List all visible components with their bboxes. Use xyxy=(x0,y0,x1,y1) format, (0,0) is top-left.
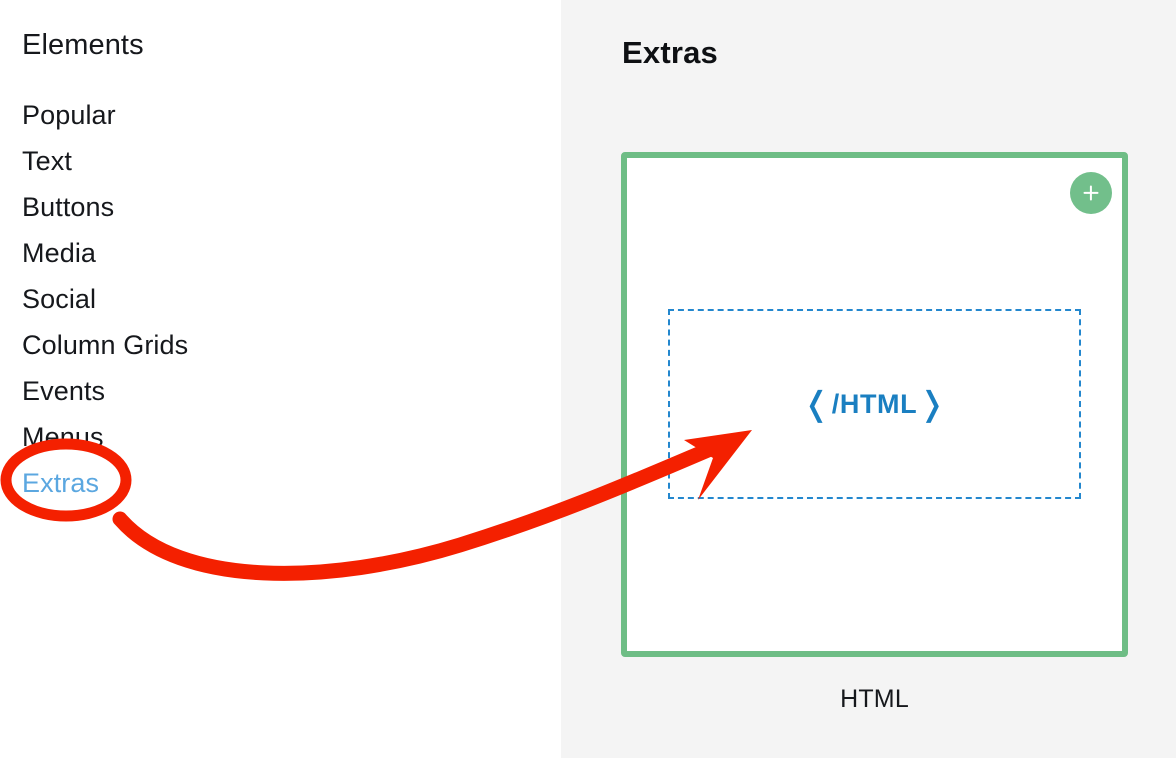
page-title: Extras xyxy=(622,35,718,71)
sidebar-item-extras[interactable]: Extras xyxy=(22,460,442,506)
sidebar-item-menus[interactable]: Menus xyxy=(22,414,442,460)
html-tag-text: /HTML xyxy=(832,389,917,420)
sidebar-item-text[interactable]: Text xyxy=(22,138,442,184)
add-icon[interactable] xyxy=(1070,172,1112,214)
extras-panel: Extras ❬/HTML❭ HTML xyxy=(561,0,1176,758)
sidebar-item-events[interactable]: Events xyxy=(22,368,442,414)
html-tag-label: ❬/HTML❭ xyxy=(802,388,946,421)
elements-sidebar: Elements Popular Text Buttons Media Soci… xyxy=(0,0,561,758)
html-dropzone[interactable]: ❬/HTML❭ xyxy=(668,309,1081,499)
angle-bracket-open-icon: ❬ xyxy=(802,387,830,420)
sidebar-item-popular[interactable]: Popular xyxy=(22,92,442,138)
sidebar-item-column-grids[interactable]: Column Grids xyxy=(22,322,442,368)
sidebar-header: Elements xyxy=(22,29,144,62)
category-list: Popular Text Buttons Media Social Column… xyxy=(22,92,442,506)
sidebar-item-media[interactable]: Media xyxy=(22,230,442,276)
sidebar-item-social[interactable]: Social xyxy=(22,276,442,322)
html-element-card[interactable]: ❬/HTML❭ xyxy=(621,152,1128,657)
sidebar-item-buttons[interactable]: Buttons xyxy=(22,184,442,230)
html-card-caption: HTML xyxy=(621,685,1128,714)
angle-bracket-close-icon: ❭ xyxy=(918,387,946,420)
